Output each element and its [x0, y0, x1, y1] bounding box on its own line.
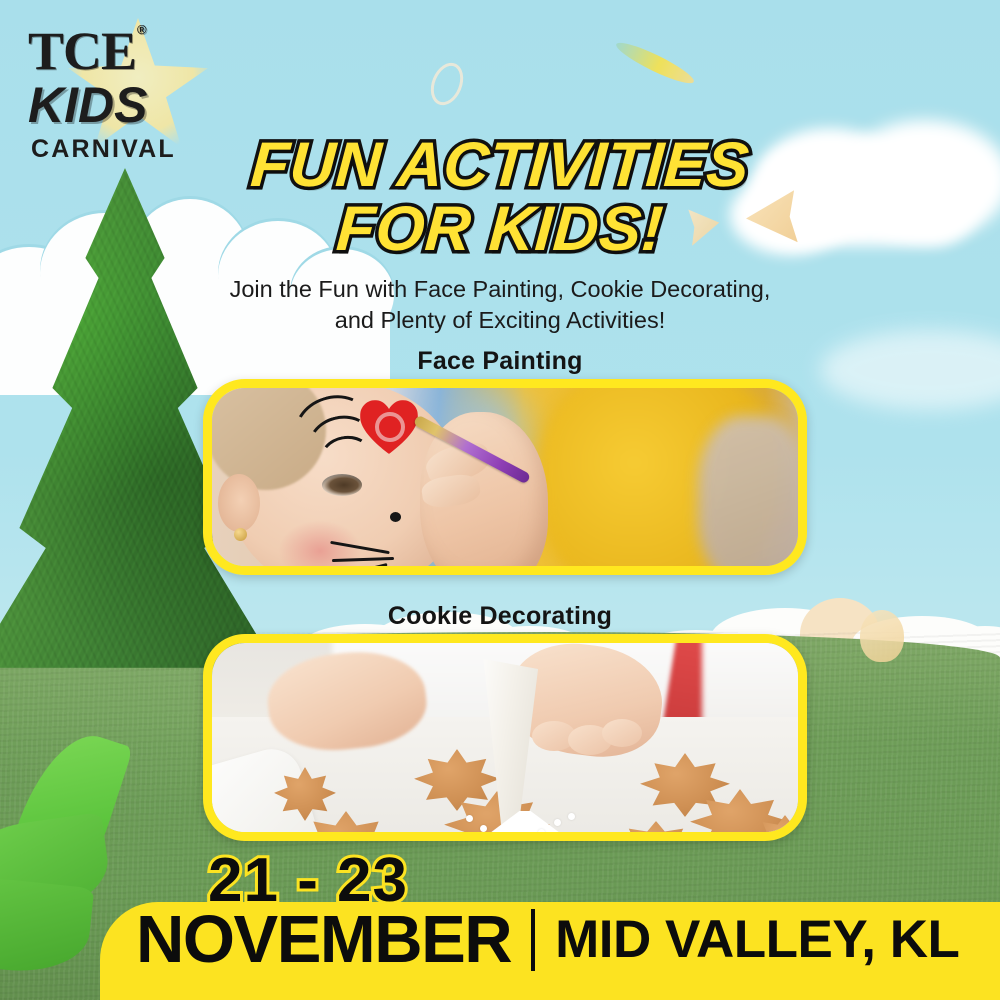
earring-icon: [234, 528, 247, 541]
event-details-banner: NOVEMBER MID VALLEY, KL: [100, 902, 1000, 1000]
logo-brand-label: TCE: [28, 21, 136, 81]
face-painting-image: [212, 388, 798, 566]
photo-face-painting: [203, 379, 807, 575]
icing-dots-group: [464, 813, 584, 832]
logo-brand-text: TCE®: [28, 24, 145, 78]
painted-heart-highlight: [375, 412, 405, 442]
cookie-decorating-image: [212, 643, 798, 832]
finger: [602, 719, 642, 747]
subtitle-line-2: and Plenty of Exciting Activities!: [0, 305, 1000, 336]
logo-audience-label: KIDS: [28, 80, 176, 130]
registered-trademark-icon: ®: [137, 22, 146, 37]
event-date-range: 21 - 23: [208, 850, 408, 912]
page-subtitle: Join the Fun with Face Painting, Cookie …: [0, 274, 1000, 336]
activity-label-face-painting: Face Painting: [0, 347, 1000, 376]
photo-cookie-decorating: [203, 634, 807, 841]
event-month: NOVEMBER: [136, 906, 511, 973]
child-ear: [218, 474, 260, 532]
poster-canvas: TCE® KIDS CARNIVAL FUN ACTIVITIES FOR KI…: [0, 0, 1000, 1000]
headline-line-1: FUN ACTIVITIES: [0, 133, 1000, 197]
banner-divider: [531, 909, 535, 971]
subtitle-line-1: Join the Fun with Face Painting, Cookie …: [0, 274, 1000, 305]
background-blur-right: [698, 416, 798, 566]
child-eye: [322, 474, 362, 496]
activity-label-cookie-decorating: Cookie Decorating: [0, 602, 1000, 631]
painted-nose-dot: [390, 512, 401, 522]
headline-line-2: FOR KIDS!: [0, 197, 1000, 261]
event-venue: MID VALLEY, KL: [555, 913, 959, 966]
page-title: FUN ACTIVITIES FOR KIDS!: [0, 133, 1000, 262]
